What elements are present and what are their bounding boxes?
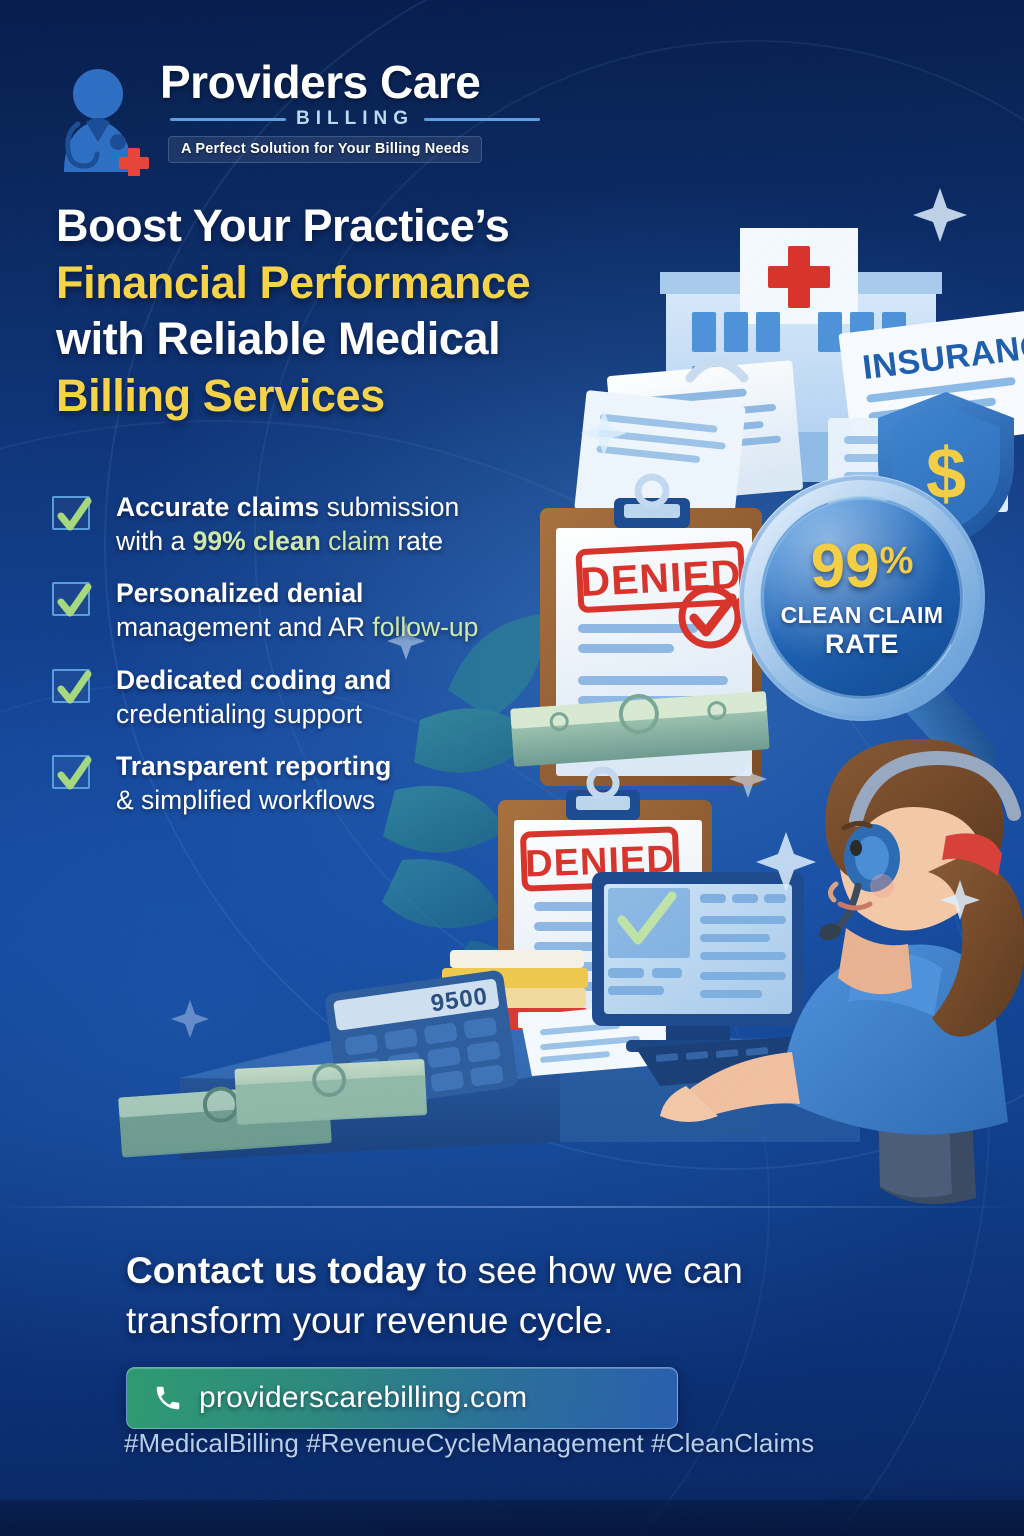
list-item: Personalized denial management and AR fo… [52, 578, 572, 643]
list-item-line2: credentialing support [116, 698, 572, 730]
cta-bold: Contact us today [126, 1250, 426, 1291]
cta-line2: transform your revenue cycle. [126, 1300, 613, 1341]
phone-icon [153, 1383, 183, 1413]
feature-list: Accurate claims submission with a 99% cl… [52, 492, 572, 837]
badge-percent-symbol: % [880, 542, 914, 580]
check-box-icon [52, 669, 90, 703]
bottom-band [0, 1500, 1024, 1536]
poster-root: INSURANCE $ [0, 0, 1024, 1536]
brand-sub-row: BILLING [160, 108, 540, 130]
cta-text: Contact us today to see how we can trans… [126, 1246, 926, 1345]
headline-line-2: Financial Performance [56, 255, 696, 312]
website-button[interactable]: providerscarebilling.com [126, 1367, 678, 1429]
list-item: Dedicated coding and credentialing suppo… [52, 665, 572, 730]
headline-line-1: Boost Your Practice’s [56, 198, 696, 255]
list-item: Accurate claims submission with a 99% cl… [52, 492, 572, 557]
logo-rule-right [424, 118, 540, 121]
badge-text-group: 99 % CLEAN CLAIM RATE [762, 498, 962, 698]
page-title: Boost Your Practice’s Financial Performa… [56, 198, 696, 425]
doctor-silhouette-icon [52, 66, 156, 176]
hashtags: #MedicalBilling #RevenueCycleManagement … [124, 1428, 814, 1459]
list-item-line1: Dedicated coding and [116, 665, 572, 696]
headline-line-4: Billing Services [56, 368, 696, 425]
logo-rule-left [170, 118, 286, 121]
badge-percent-number: 99 [811, 536, 880, 598]
cta-normal: to see how we can [426, 1250, 743, 1291]
badge-line1: CLEAN CLAIM [781, 602, 944, 629]
check-box-icon [52, 755, 90, 789]
headline-line-3: with Reliable Medical [56, 311, 696, 368]
list-item-line2: & simplified workflows [116, 784, 572, 816]
check-box-icon [52, 496, 90, 530]
list-item-line2: management and AR follow-up [116, 611, 572, 643]
list-item-line1: Accurate claims submission [116, 492, 572, 523]
website-url: providerscarebilling.com [199, 1381, 527, 1415]
list-item-line1: Transparent reporting [116, 751, 572, 782]
section-divider [0, 1206, 1024, 1208]
call-to-action: Contact us today to see how we can trans… [126, 1246, 926, 1429]
brand-logo[interactable]: Providers Care BILLING A Perfect Solutio… [52, 58, 522, 178]
brand-tagline: A Perfect Solution for Your Billing Need… [168, 136, 482, 163]
list-item: Transparent reporting & simplified workf… [52, 751, 572, 816]
check-box-icon [52, 582, 90, 616]
list-item-line1: Personalized denial [116, 578, 572, 609]
badge-line2: RATE [825, 629, 899, 660]
brand-name: Providers Care [160, 58, 540, 106]
list-item-line2: with a 99% clean claim rate [116, 525, 572, 557]
brand-sub: BILLING [296, 108, 414, 130]
